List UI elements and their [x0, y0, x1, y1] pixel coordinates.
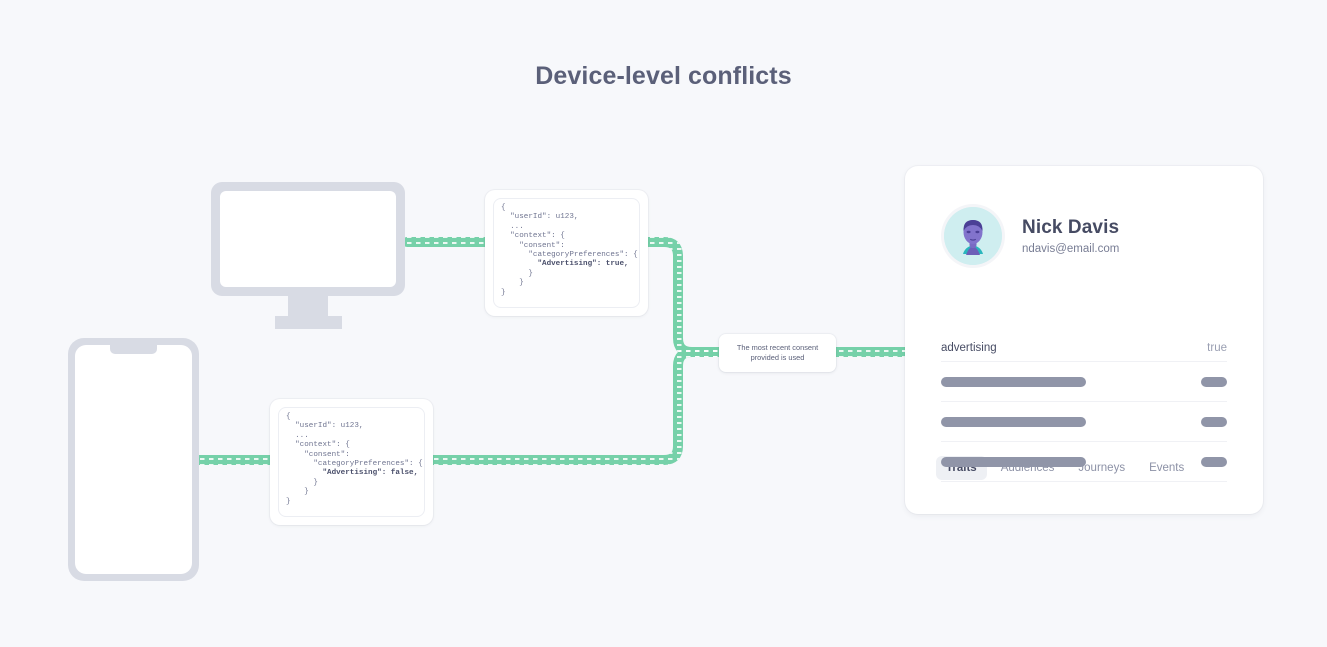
consent-resolution-tooltip: The most recent consent provided is used — [719, 334, 836, 372]
tooltip-line-2: provided is used — [751, 353, 805, 362]
trait-row[interactable]: advertising true — [941, 334, 1227, 362]
list-item — [941, 402, 1227, 442]
skeleton-bar-key — [941, 457, 1086, 467]
phone-icon — [68, 338, 199, 581]
list-item — [941, 362, 1227, 402]
skeleton-bar-value — [1201, 377, 1227, 387]
tooltip-line-1: The most recent consent — [737, 343, 818, 352]
traits-list: advertising true — [941, 334, 1227, 482]
phone-frame — [68, 338, 199, 581]
list-item — [941, 442, 1227, 482]
skeleton-bar-key — [941, 417, 1086, 427]
code-block-desktop: { "userId": u123, ... "context": { "cons… — [501, 204, 638, 298]
diagram-canvas: Device-level conflicts — [0, 0, 1327, 647]
monitor-stand-neck — [288, 296, 328, 316]
profile-identity: Nick Davis ndavis@email.com — [1022, 217, 1119, 255]
code-card-mobile-payload: { "userId": u123, ... "context": { "cons… — [270, 399, 433, 525]
profile-name: Nick Davis — [1022, 217, 1119, 239]
skeleton-bar-value — [1201, 457, 1227, 467]
profile-email: ndavis@email.com — [1022, 243, 1119, 255]
avatar — [941, 204, 1005, 268]
profile-card: Nick Davis ndavis@email.com Traits Audie… — [905, 166, 1263, 514]
trait-key: advertising — [941, 342, 997, 354]
user-avatar-icon — [944, 207, 1002, 265]
code-block-mobile: { "userId": u123, ... "context": { "cons… — [286, 413, 423, 507]
tooltip-text: The most recent consent provided is used — [730, 343, 825, 363]
skeleton-bar-key — [941, 377, 1086, 387]
code-card-desktop-payload: { "userId": u123, ... "context": { "cons… — [485, 190, 648, 316]
profile-header: Nick Davis ndavis@email.com — [941, 204, 1119, 268]
phone-screen — [75, 345, 192, 574]
skeleton-bar-value — [1201, 417, 1227, 427]
monitor-frame — [211, 182, 405, 296]
monitor-stand-base — [275, 316, 342, 329]
monitor-icon — [211, 182, 405, 329]
trait-value: true — [1207, 342, 1227, 354]
phone-notch — [110, 345, 157, 354]
avatar-illustration — [944, 207, 1002, 265]
monitor-screen — [220, 191, 396, 287]
